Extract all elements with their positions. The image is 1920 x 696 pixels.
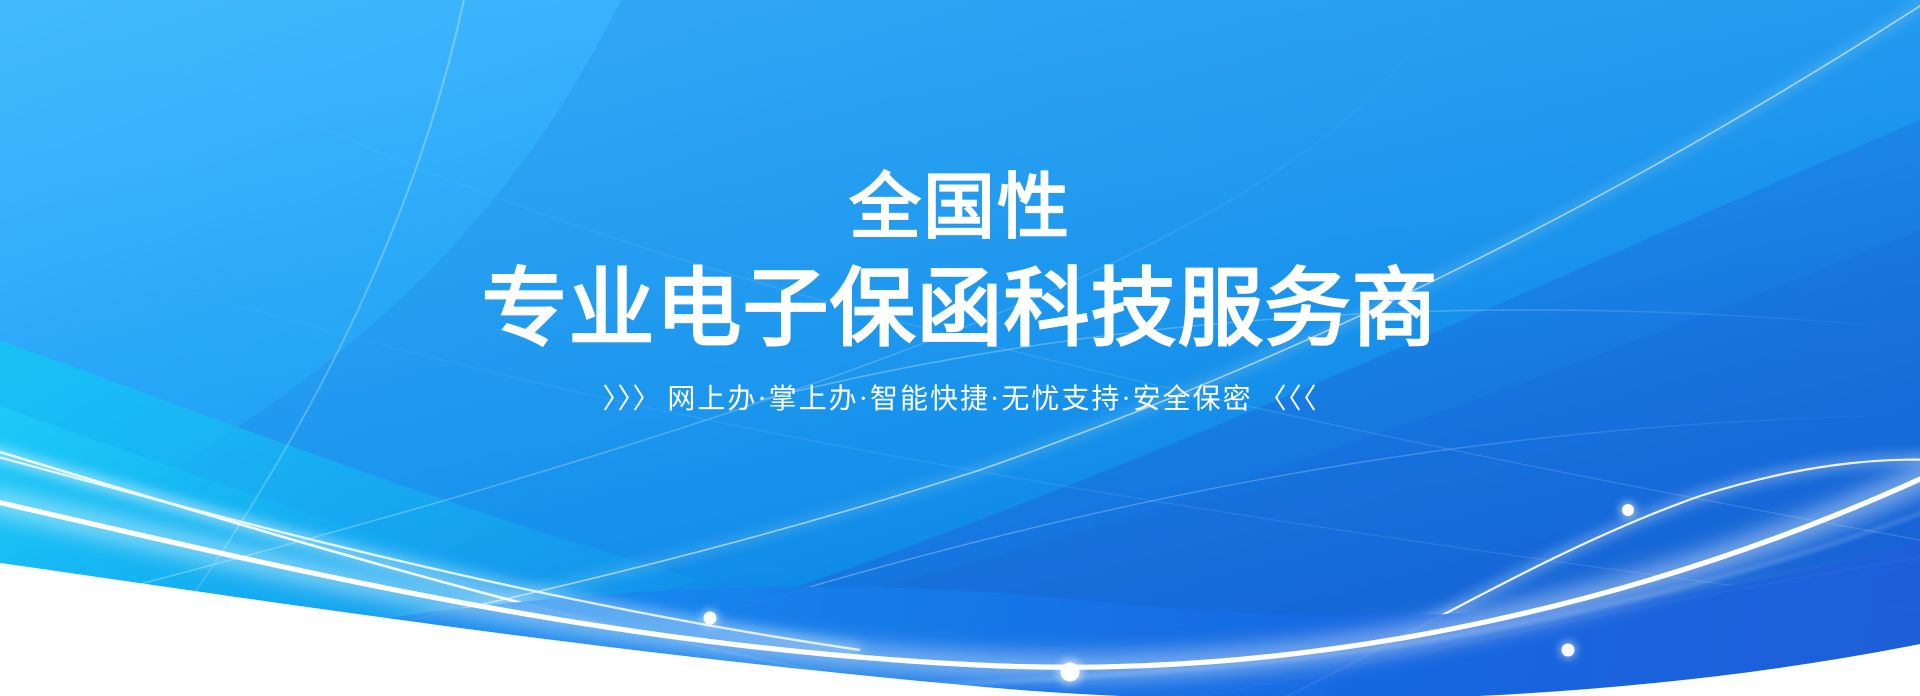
banner-background-artwork: [0, 0, 1920, 696]
hero-banner: 全国性 专业电子保函科技服务商 〉〉〉网上办·掌上办·智能快捷·无忧支持·安全保…: [0, 0, 1920, 696]
